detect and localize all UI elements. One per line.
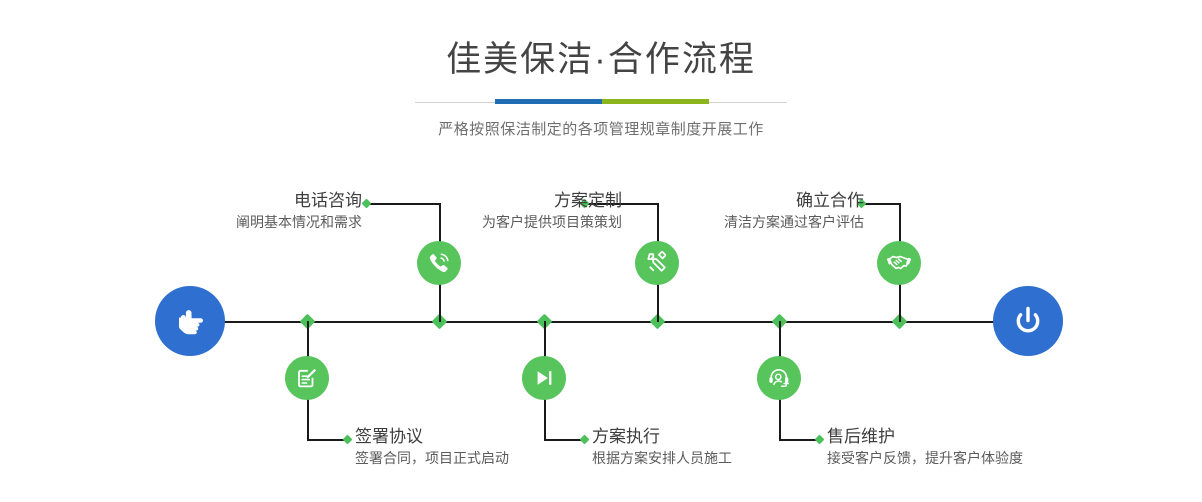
document-edit-icon <box>294 365 320 391</box>
step-icon-1[interactable] <box>417 241 461 285</box>
step-title-1: 电话咨询 <box>236 190 362 212</box>
pencil-ruler-icon <box>644 250 670 276</box>
phone-call-icon <box>426 250 452 276</box>
step-desc-4: 根据方案安排人员施工 <box>592 448 732 468</box>
step-desc-1: 阐明基本情况和需求 <box>236 212 362 232</box>
flow-diagram-canvas: 佳美保洁·合作流程 严格按照保洁制定的各项管理规章制度开展工作 <box>0 0 1202 502</box>
step-label-4: 方案执行 根据方案安排人员施工 <box>592 426 732 468</box>
step-label-2: 签署协议 签署合同，项目正式启动 <box>355 426 509 468</box>
timeline-end-node[interactable] <box>993 286 1063 356</box>
customer-support-icon <box>766 365 792 391</box>
step-icon-6[interactable] <box>757 356 801 400</box>
label-marker-6 <box>815 435 825 445</box>
handshake-icon <box>886 250 912 276</box>
timeline-start-node[interactable] <box>155 286 225 356</box>
header: 佳美保洁·合作流程 严格按照保洁制定的各项管理规章制度开展工作 <box>0 0 1202 139</box>
title-divider <box>415 99 787 105</box>
play-next-icon <box>531 365 557 391</box>
step-icon-4[interactable] <box>522 356 566 400</box>
step-label-3: 方案定制 为客户提供项目策策划 <box>482 190 622 232</box>
divider-green-segment <box>602 99 709 104</box>
step-desc-6: 接受客户反馈，提升客户体验度 <box>827 448 1023 468</box>
step-label-1: 电话咨询 阐明基本情况和需求 <box>236 190 362 232</box>
step-label-5: 确立合作 清洁方案通过客户评估 <box>724 190 864 232</box>
step-label-6: 售后维护 接受客户反馈，提升客户体验度 <box>827 426 1023 468</box>
step-desc-3: 为客户提供项目策策划 <box>482 212 622 232</box>
step-title-2: 签署协议 <box>355 426 509 448</box>
page-title: 佳美保洁·合作流程 <box>0 42 1202 77</box>
divider-blue-segment <box>495 99 602 104</box>
step-icon-2[interactable] <box>285 356 329 400</box>
branch-line-1-connector <box>369 203 434 205</box>
pointing-hand-icon <box>170 301 210 341</box>
step-desc-5: 清洁方案通过客户评估 <box>724 212 864 232</box>
step-title-3: 方案定制 <box>482 190 622 212</box>
step-title-5: 确立合作 <box>724 190 864 212</box>
page-subtitle: 严格按照保洁制定的各项管理规章制度开展工作 <box>0 118 1202 139</box>
label-marker-4 <box>580 435 590 445</box>
step-title-4: 方案执行 <box>592 426 732 448</box>
label-marker-1 <box>362 199 372 209</box>
label-marker-2 <box>343 435 353 445</box>
step-icon-3[interactable] <box>635 241 679 285</box>
step-desc-2: 签署合同，项目正式启动 <box>355 448 509 468</box>
step-title-6: 售后维护 <box>827 426 1023 448</box>
step-icon-5[interactable] <box>877 241 921 285</box>
branch-line-5-horizontal <box>864 203 901 205</box>
power-icon <box>1008 301 1048 341</box>
